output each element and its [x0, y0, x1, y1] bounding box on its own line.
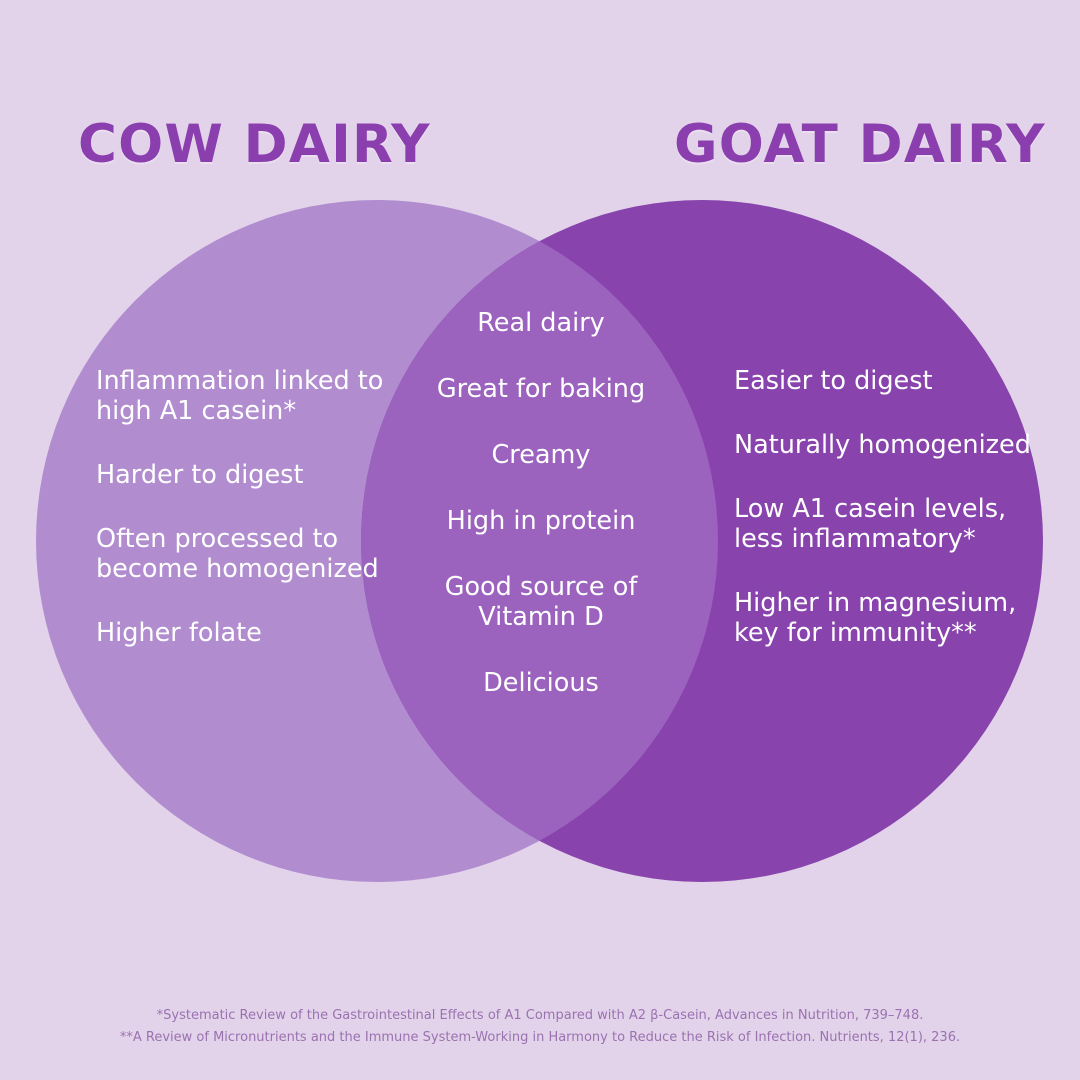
cow-dairy-attribute-list: Inflammation linked to high A1 casein* H…: [96, 366, 396, 648]
list-item: Easier to digest: [734, 366, 1046, 396]
goat-dairy-attribute-list: Easier to digest Naturally homogenized L…: [734, 366, 1046, 648]
list-item: High in protein: [401, 506, 681, 536]
footnote-line: *Systematic Review of the Gastrointestin…: [0, 1005, 1080, 1027]
list-item: Naturally homogenized: [734, 430, 1046, 460]
list-item: Real dairy: [401, 308, 681, 338]
list-item: Creamy: [401, 440, 681, 470]
list-item: Inflammation linked to high A1 casein*: [96, 366, 396, 426]
list-item: Great for baking: [401, 374, 681, 404]
list-item: Higher folate: [96, 618, 396, 648]
list-item: Harder to digest: [96, 460, 396, 490]
list-item: Often processed to become homogenized: [96, 524, 396, 584]
list-item: Higher in magnesium, key for immunity**: [734, 588, 1046, 648]
footnotes: *Systematic Review of the Gastrointestin…: [0, 1005, 1080, 1050]
venn-infographic: COW DAIRY GOAT DAIRY Inflammation linked…: [0, 0, 1080, 1080]
list-item: Good source of Vitamin D: [401, 572, 681, 632]
footnote-line: **A Review of Micronutrients and the Imm…: [0, 1027, 1080, 1049]
title-goat-dairy: GOAT DAIRY: [674, 114, 1046, 175]
list-item: Low A1 casein levels, less inflammatory*: [734, 494, 1046, 554]
list-item: Delicious: [401, 668, 681, 698]
title-cow-dairy: COW DAIRY: [78, 114, 431, 175]
shared-attribute-list: Real dairy Great for baking Creamy High …: [401, 308, 681, 699]
